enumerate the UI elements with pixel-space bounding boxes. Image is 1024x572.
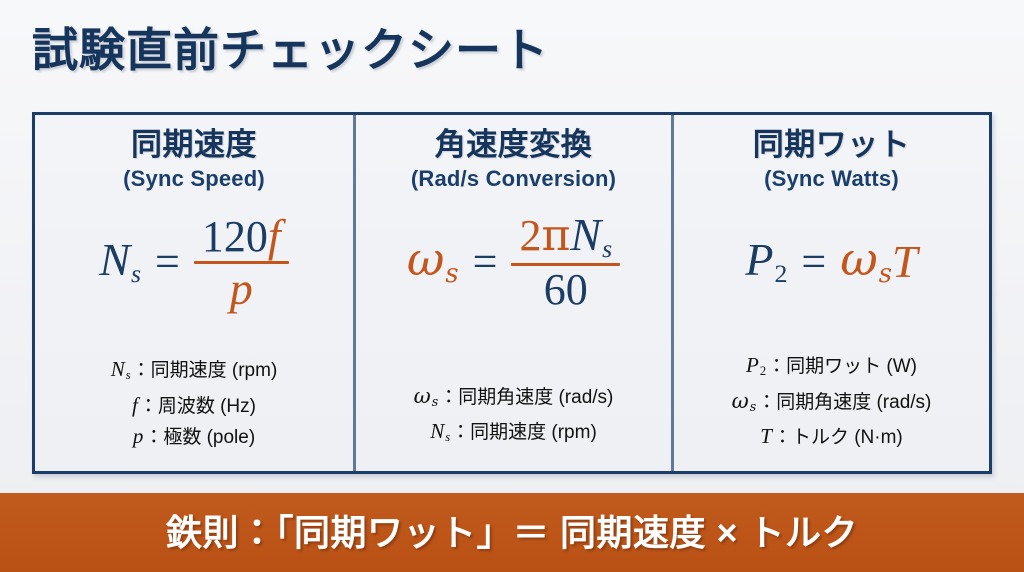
formula-sync-speed: Ns = 120f p <box>99 198 288 326</box>
legend-row: f ：周波数 (Hz) <box>132 392 256 420</box>
legend-description: ：トルク (N·m) <box>773 424 903 451</box>
symbol-p: p <box>230 263 253 314</box>
rule-banner: 鉄則：「同期ワット」＝ 同期速度 × トルク <box>0 493 1024 572</box>
formula-sync-watts: P2 = ωsT <box>745 198 917 326</box>
legend-description: ：極数 (pole) <box>144 424 255 451</box>
formula-rhs: ωsT <box>840 236 917 288</box>
legend-symbol: ωs <box>414 383 439 415</box>
legend-description: ：同期速度 (rpm) <box>451 419 597 446</box>
page-title: 試験直前チェックシート <box>32 22 549 78</box>
legend-row: Ns ：同期速度 (rpm) <box>430 418 597 451</box>
fraction: 2πNs 60 <box>511 210 620 315</box>
legend-row: ωs ：同期角速度 (rad/s) <box>414 383 614 415</box>
formula-lhs: ωs <box>407 236 459 288</box>
panel-heading: 同期速度 <box>131 125 257 165</box>
fraction-denominator: p <box>222 264 261 314</box>
slide-root: 試験直前チェックシート 同期速度 (Sync Speed) Ns = 120f … <box>0 0 1024 572</box>
formula-card: 同期速度 (Sync Speed) Ns = 120f p <box>32 112 992 474</box>
symbol-T: T <box>892 239 918 285</box>
panel-rad-conversion: 角速度変換 (Rad/s Conversion) ωs = 2πNs 60 <box>353 115 671 471</box>
panel-subheading: (Rad/s Conversion) <box>411 164 616 194</box>
legend-symbol: p <box>133 423 144 450</box>
panel-subheading: (Sync Watts) <box>764 164 899 194</box>
legend-description: ：同期ワット (W) <box>767 353 917 380</box>
symbol-omega-s: ωs <box>407 236 459 288</box>
legend-row: Ns ：同期速度 (rpm) <box>111 356 278 389</box>
symbol-P2: P2 <box>745 237 787 287</box>
formula-rad-conversion: ωs = 2πNs 60 <box>407 198 620 326</box>
panel-heading: 同期ワット <box>753 125 911 165</box>
symbol-Ns: Ns <box>99 237 141 287</box>
formula-lhs: Ns <box>99 237 141 287</box>
numeral-60: 60 <box>544 265 588 314</box>
legend-symbol: P2 <box>746 352 766 385</box>
legend-row: T ：トルク (N·m) <box>760 423 903 451</box>
legend-description: ：同期角速度 (rad/s) <box>439 384 613 411</box>
legend-row: P2 ：同期ワット (W) <box>746 352 917 385</box>
rule-banner-text: 鉄則：「同期ワット」＝ 同期速度 × トルク <box>166 511 858 555</box>
legend-row: p ：極数 (pole) <box>133 423 255 451</box>
equals-sign: = <box>155 240 180 284</box>
legend-symbol: Ns <box>430 418 450 451</box>
fraction-numerator: 120f <box>194 211 289 261</box>
legend-description: ：同期速度 (rpm) <box>132 357 278 384</box>
equals-sign: = <box>801 240 826 284</box>
symbol-omega-s: ωs <box>840 236 892 288</box>
legend-sync-watts: P2 ：同期ワット (W) ωs ：同期角速度 (rad/s) T ：トルク (… <box>732 352 932 451</box>
legend-rad-conversion: ωs ：同期角速度 (rad/s) Ns ：同期速度 (rpm) <box>414 383 614 451</box>
legend-row: ωs ：同期角速度 (rad/s) <box>732 388 932 420</box>
panel-sync-speed: 同期速度 (Sync Speed) Ns = 120f p <box>35 115 353 471</box>
panel-sync-watts: 同期ワット (Sync Watts) P2 = ωsT P2 ：同期ワット (W… <box>671 115 989 471</box>
panel-subheading: (Sync Speed) <box>123 164 265 194</box>
numeral-120: 120 <box>202 212 268 261</box>
legend-symbol: ωs <box>732 388 757 420</box>
fraction-denominator: 60 <box>536 266 596 314</box>
legend-symbol: Ns <box>111 356 131 389</box>
equals-sign: = <box>473 240 498 284</box>
formula-lhs: P2 <box>745 237 787 287</box>
legend-description: ：同期角速度 (rad/s) <box>757 389 931 416</box>
symbol-f: f <box>268 210 281 261</box>
legend-symbol: T <box>760 423 772 450</box>
symbol-Ns: Ns <box>570 209 612 260</box>
panel-heading: 角速度変換 <box>435 125 593 165</box>
numeral-2: 2 <box>519 211 541 260</box>
legend-description: ：周波数 (Hz) <box>139 393 256 420</box>
fraction: 120f p <box>194 211 289 314</box>
legend-symbol: f <box>132 392 138 419</box>
fraction-numerator: 2πNs <box>511 210 620 264</box>
legend-sync-speed: Ns ：同期速度 (rpm) f ：周波数 (Hz) p ：極数 (pole) <box>111 356 278 451</box>
symbol-pi: π <box>541 210 570 261</box>
